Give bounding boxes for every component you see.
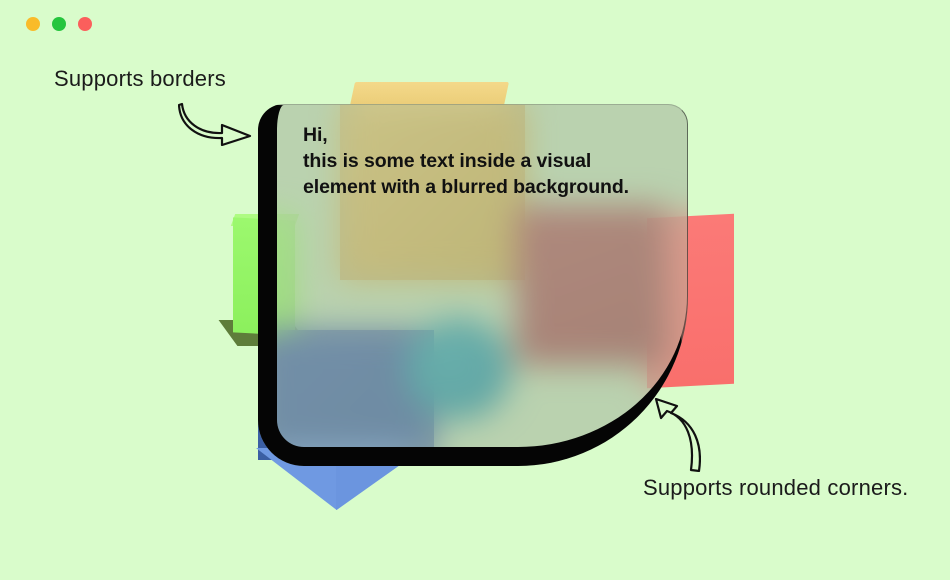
curved-arrow-right-icon [178, 100, 256, 146]
card-text-line-1: Hi, [303, 122, 629, 148]
card-text-line-3: element with a blurred background. [303, 174, 629, 200]
annotation-corners-label: Supports rounded corners. [643, 475, 909, 501]
annotation-borders-label: Supports borders [54, 66, 226, 92]
close-button[interactable] [78, 17, 92, 31]
card-text-line-2: this is some text inside a visual [303, 148, 629, 174]
curved-arrow-up-left-icon [645, 398, 701, 472]
window-controls [26, 17, 92, 31]
card-text-block: Hi, this is some text inside a visual el… [303, 122, 629, 200]
maximize-button[interactable] [52, 17, 66, 31]
minimize-button[interactable] [26, 17, 40, 31]
